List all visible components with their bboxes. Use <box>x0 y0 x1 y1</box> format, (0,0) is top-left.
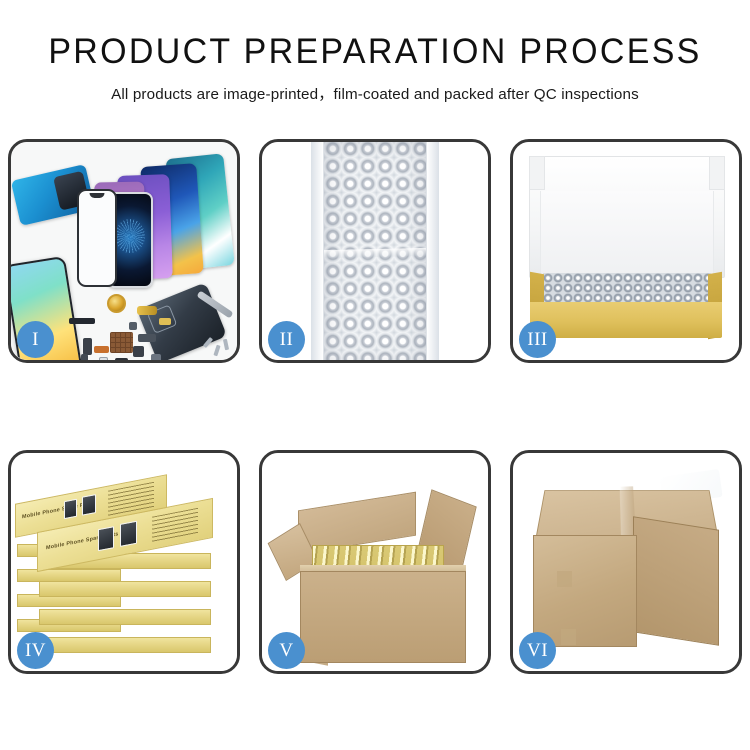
part-icon <box>81 354 88 360</box>
process-steps-grid: I II III <box>8 139 742 674</box>
wrap-edge-left <box>311 142 323 360</box>
step-panel-3[interactable]: III <box>510 139 742 363</box>
step-panel-6[interactable]: VI <box>510 450 742 674</box>
part-icon <box>129 322 137 330</box>
bubble-wrap-sheet <box>323 142 427 360</box>
step-badge-3: III <box>519 321 556 358</box>
inner-box-flap-right <box>709 156 725 190</box>
carton-tape-patch <box>561 629 576 645</box>
part-icon <box>94 346 109 353</box>
step-badge-1: I <box>17 321 54 358</box>
page-subtitle: All products are image-printed，film-coat… <box>0 82 750 104</box>
stacked-box <box>39 581 211 597</box>
sealed-carton-front <box>533 535 637 647</box>
inner-box-lid <box>529 156 725 278</box>
part-icon <box>115 358 128 360</box>
page-header: PRODUCT PREPARATION PROCESS All products… <box>0 0 750 104</box>
step-badge-2: II <box>268 321 305 358</box>
wrap-edge-right <box>427 142 439 360</box>
part-icon <box>99 357 108 360</box>
step-badge-4: IV <box>17 632 54 669</box>
step-badge-6: VI <box>519 632 556 669</box>
step-badge-5: V <box>268 632 305 669</box>
sealed-carton-side <box>633 516 719 646</box>
carton-tape-patch <box>557 571 572 587</box>
step-panel-1[interactable]: I <box>8 139 240 363</box>
box-window-icon <box>120 521 137 547</box>
box-spec-lines <box>152 508 198 543</box>
inner-box-front <box>530 302 722 338</box>
part-icon <box>159 318 171 325</box>
screw-icon <box>213 345 220 357</box>
screen-protector-icon <box>77 189 117 287</box>
box-window-icon <box>98 526 114 551</box>
step-panel-2[interactable]: II <box>259 139 491 363</box>
page-title: PRODUCT PREPARATION PROCESS <box>11 34 739 71</box>
inner-box-flap-left <box>529 156 545 190</box>
part-icon <box>138 334 156 342</box>
screw-icon <box>223 339 229 351</box>
step-panel-5[interactable]: V <box>259 450 491 674</box>
step-panel-4[interactable]: Mobile Phone Spare Parts Mobile Phone Sp… <box>8 450 240 674</box>
bubble-wrapped-item <box>543 273 711 302</box>
part-icon <box>133 346 144 357</box>
chip-part-icon <box>110 332 133 353</box>
part-icon <box>137 306 157 315</box>
box-window-icon <box>64 499 77 520</box>
phone-housing-icon <box>137 282 227 360</box>
part-icon <box>151 354 161 360</box>
part-icon <box>83 338 92 355</box>
stacked-box <box>39 609 211 625</box>
carton-body-front <box>300 571 466 663</box>
part-icon <box>69 318 95 324</box>
coil-part-icon <box>107 294 126 313</box>
stacked-box <box>39 637 211 653</box>
box-window-icon <box>82 494 96 516</box>
